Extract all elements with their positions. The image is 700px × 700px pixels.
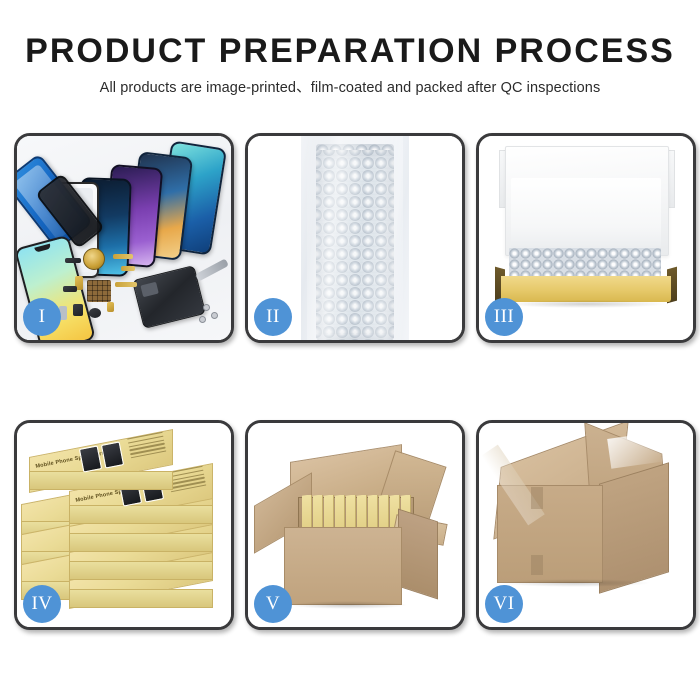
step-badge-v: V bbox=[254, 585, 292, 623]
carton-shadow bbox=[501, 579, 651, 587]
step-panel-iv: Mobile Phone Spare Parts Mobile Phone Sp… bbox=[14, 420, 234, 630]
tape-tab-lower bbox=[531, 555, 543, 575]
foam-insert bbox=[511, 178, 661, 248]
carton-side-face bbox=[599, 462, 669, 593]
chip-array-part bbox=[87, 280, 111, 302]
spare-part-3 bbox=[121, 266, 135, 271]
spare-part-5 bbox=[115, 282, 137, 287]
steps-grid: I II bbox=[0, 0, 700, 700]
spare-part-6 bbox=[73, 304, 83, 316]
spare-part-8 bbox=[107, 302, 114, 312]
bubble-wrap-gloss bbox=[307, 136, 403, 340]
speaker-coil-part bbox=[83, 248, 105, 270]
step-badge-i: I bbox=[23, 298, 61, 336]
carton-shadow bbox=[288, 601, 408, 609]
spare-part-2 bbox=[113, 254, 133, 259]
screw-3 bbox=[199, 316, 206, 323]
box-shadow bbox=[505, 300, 667, 308]
carton-front-face bbox=[284, 527, 402, 605]
product-preparation-infographic: PRODUCT PREPARATION PROCESS All products… bbox=[0, 0, 700, 700]
box-front-face bbox=[69, 505, 213, 524]
box-front-yellow bbox=[501, 276, 671, 302]
box-front-face bbox=[69, 561, 213, 580]
spare-part-10 bbox=[63, 286, 77, 292]
step-panel-i: I bbox=[14, 133, 234, 343]
box-front-face bbox=[69, 533, 213, 552]
spare-part-1 bbox=[65, 258, 81, 263]
step-badge-vi: VI bbox=[485, 585, 523, 623]
spare-part-7 bbox=[89, 308, 101, 318]
screw-2 bbox=[211, 312, 218, 319]
step-panel-v: V bbox=[245, 420, 465, 630]
carton-side-face bbox=[398, 509, 438, 600]
step-badge-iii: III bbox=[485, 298, 523, 336]
tape-tab-upper bbox=[531, 487, 543, 509]
screw-1 bbox=[203, 304, 210, 311]
box-front-face bbox=[29, 471, 173, 490]
step-panel-ii: II bbox=[245, 133, 465, 343]
step-panel-vi: VI bbox=[476, 420, 696, 630]
step-panel-iii: III bbox=[476, 133, 696, 343]
box-front-face bbox=[69, 589, 213, 608]
step-badge-ii: II bbox=[254, 298, 292, 336]
step-badge-iv: IV bbox=[23, 585, 61, 623]
